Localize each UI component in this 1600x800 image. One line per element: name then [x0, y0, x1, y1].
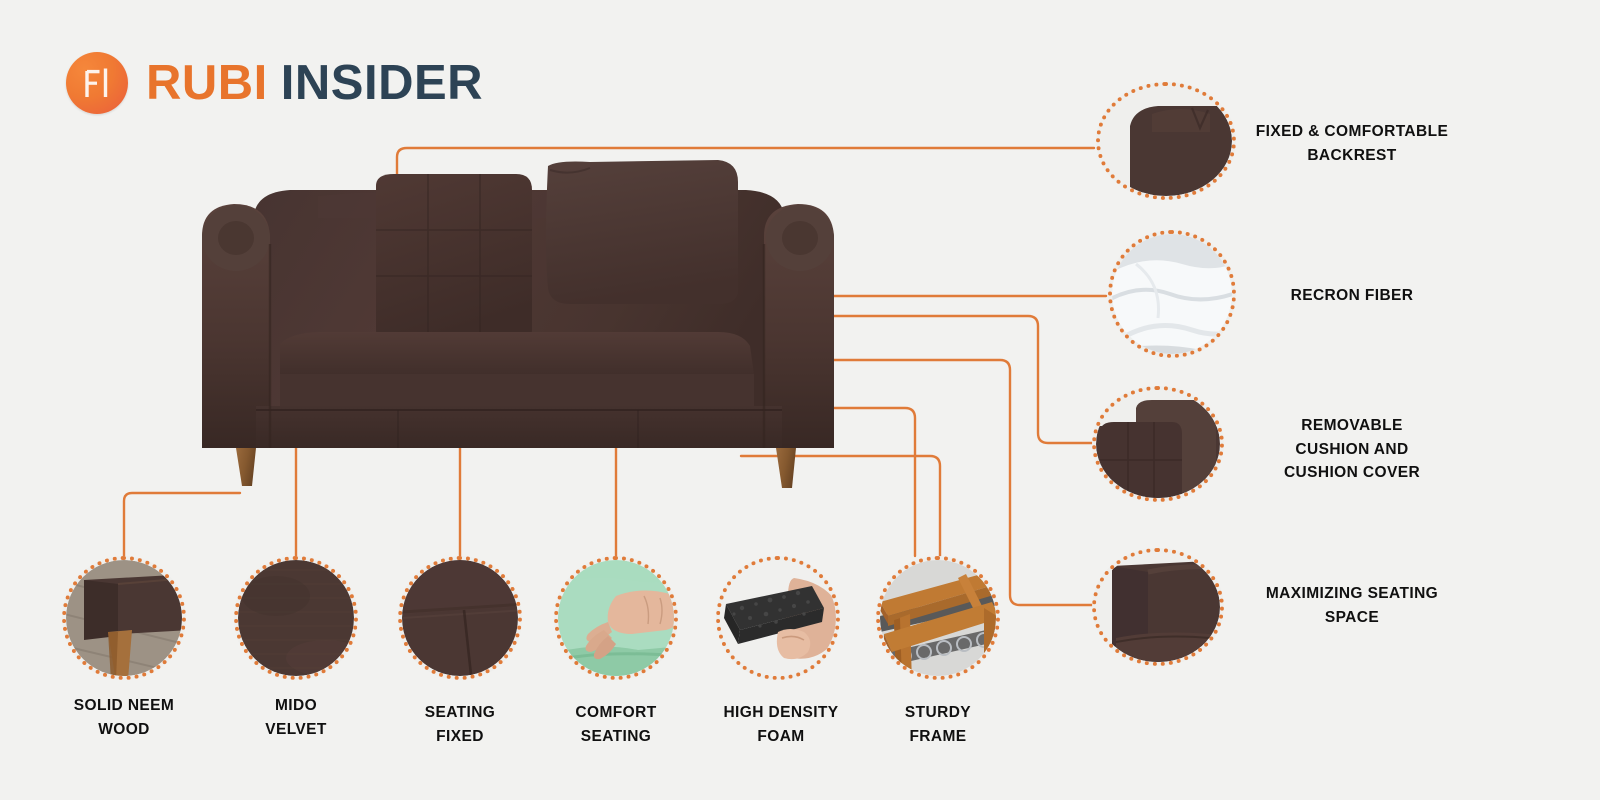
label-line: COMFORT — [536, 701, 696, 725]
label-line: BACKREST — [1246, 144, 1458, 168]
cushion-pair-thumb-image — [1096, 390, 1220, 498]
white-fiber-thumb-image — [1112, 234, 1232, 354]
label-line: FRAME — [858, 725, 1018, 749]
label-line: SEATING — [536, 725, 696, 749]
thumb-recron-fiber[interactable] — [1108, 230, 1236, 358]
label-line: MAXIMIZING SEATING — [1246, 582, 1458, 606]
label-line: STURDY — [858, 701, 1018, 725]
label-removable-cushion: REMOVABLE CUSHION AND CUSHION COVER — [1246, 414, 1458, 485]
label-line: HIGH DENSITY — [698, 701, 864, 725]
sofa-base — [256, 406, 782, 448]
label-seating-fixed: SEATING FIXED — [380, 701, 540, 748]
thumb-removable-cushion[interactable] — [1092, 386, 1224, 502]
sofa-leg-left — [236, 448, 256, 486]
velvet-fabric-thumb-image — [238, 560, 354, 676]
sofa-back-pillow — [546, 160, 738, 304]
thumb-seating-fixed[interactable] — [398, 556, 522, 680]
arm-left-roll-inner — [218, 221, 254, 255]
product-sofa-image — [198, 148, 838, 533]
label-solid-neem-wood: SOLID NEEM WOOD — [44, 694, 204, 741]
arm-right-roll-inner — [782, 221, 818, 255]
label-line: RECRON FIBER — [1246, 284, 1458, 308]
seat-corner-thumb-image — [1096, 552, 1220, 662]
thumb-high-density-foam[interactable] — [716, 556, 840, 680]
label-line: FOAM — [698, 725, 864, 749]
thumb-fixed-comfortable-backrest[interactable] — [1096, 82, 1236, 200]
label-line: VELVET — [216, 718, 376, 742]
label-line: SOLID NEEM — [44, 694, 204, 718]
label-line: CUSHION COVER — [1246, 461, 1458, 485]
label-line: FIXED & COMFORTABLE — [1246, 120, 1458, 144]
sofa-seat-front — [280, 374, 754, 406]
label-line: SEATING — [380, 701, 540, 725]
wooden-frame-springs-thumb-image — [880, 560, 996, 676]
label-line: WOOD — [44, 718, 204, 742]
green-foam-hand-press-thumb-image — [558, 560, 674, 676]
black-foam-in-hand-thumb-image — [720, 560, 836, 676]
label-line: CUSHION AND — [1246, 438, 1458, 462]
label-line: REMOVABLE — [1246, 414, 1458, 438]
sofa-backrest-thumb-image — [1100, 86, 1232, 196]
label-sturdy-frame: STURDY FRAME — [858, 701, 1018, 748]
infographic-canvas: RUBI INSIDER — [0, 0, 1600, 800]
thumb-mido-velvet[interactable] — [234, 556, 358, 680]
thumb-maximizing-seating-space[interactable] — [1092, 548, 1224, 666]
label-recron-fiber: RECRON FIBER — [1246, 284, 1458, 308]
label-fixed-comfortable-backrest: FIXED & COMFORTABLE BACKREST — [1246, 120, 1458, 167]
thumb-sturdy-frame[interactable] — [876, 556, 1000, 680]
label-high-density-foam: HIGH DENSITY FOAM — [698, 701, 864, 748]
label-mido-velvet: MIDO VELVET — [216, 694, 376, 741]
sofa-leg-right — [776, 448, 796, 488]
sofa-lumbar-cushion — [376, 174, 532, 344]
label-line: FIXED — [380, 725, 540, 749]
thumb-solid-neem-wood[interactable] — [62, 556, 186, 680]
thumb-comfort-seating[interactable] — [554, 556, 678, 680]
label-line: SPACE — [1246, 606, 1458, 630]
fixed-seat-thumb-image — [402, 560, 518, 676]
sofa-seat-cushion — [280, 332, 754, 374]
wooden-leg-on-floor-thumb-image — [66, 560, 182, 676]
label-line: MIDO — [216, 694, 376, 718]
label-maximizing-seating-space: MAXIMIZING SEATING SPACE — [1246, 582, 1458, 629]
label-comfort-seating: COMFORT SEATING — [536, 701, 696, 748]
